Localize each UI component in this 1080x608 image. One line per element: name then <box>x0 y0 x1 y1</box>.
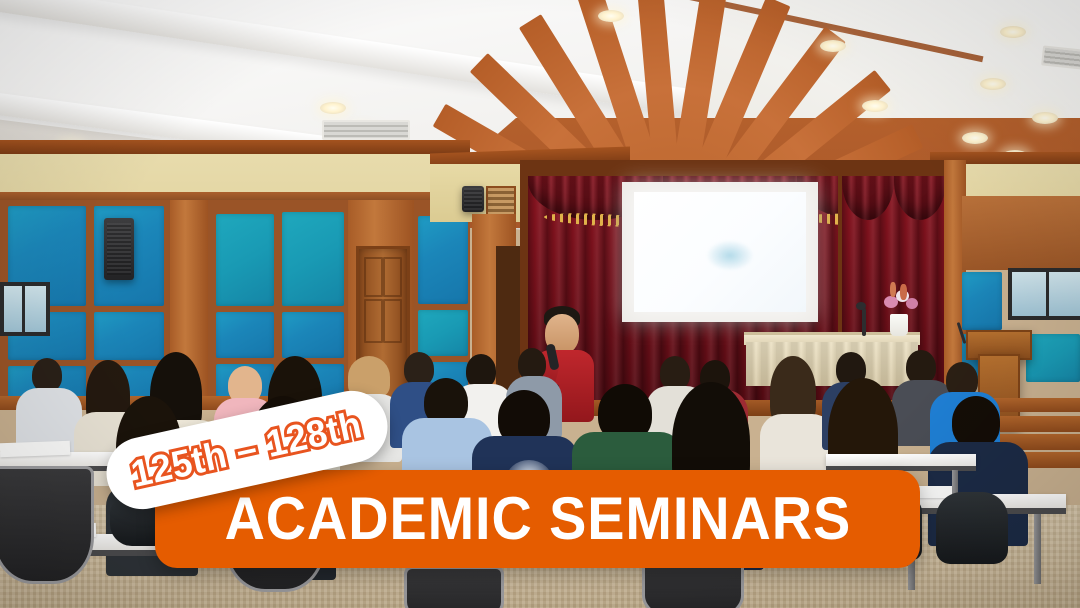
acoustic-panel <box>216 312 274 358</box>
audience-head-front <box>952 396 1000 448</box>
door-panel <box>383 257 402 297</box>
chair-back <box>404 566 504 608</box>
flower-vase <box>890 314 908 336</box>
acoustic-panel <box>216 214 274 306</box>
ceiling-downlight <box>1000 26 1026 38</box>
acoustic-panel <box>282 312 344 358</box>
ceiling-downlight <box>1032 112 1058 124</box>
ceiling-downlight <box>862 100 888 112</box>
ceiling-downlight <box>980 78 1006 90</box>
handout-paper <box>0 441 70 457</box>
banner-title: ACADEMIC SEMINARS <box>224 489 851 549</box>
ceiling-downlight <box>598 10 624 22</box>
air-vent-grille <box>322 120 410 140</box>
banner-bar: ACADEMIC SEMINARS <box>155 470 920 568</box>
audience-head <box>32 358 62 392</box>
acoustic-panel <box>962 272 1002 330</box>
chair-back <box>0 466 94 584</box>
right-wall-wood-panel <box>962 196 1080 270</box>
side-window[interactable] <box>1008 268 1080 320</box>
seminar-photo-banner: ACADEMIC SEMINARS 125th – 128th <box>0 0 1080 608</box>
slide-content-blur <box>706 240 754 271</box>
cornice-left <box>0 140 470 154</box>
curtain-valance <box>842 176 946 234</box>
attendee-table <box>826 454 976 466</box>
acoustic-panel <box>418 310 468 356</box>
wall-loudspeaker <box>462 186 484 212</box>
table-leg <box>1034 514 1041 584</box>
doorway-dark <box>496 246 520 400</box>
audience-head <box>660 356 690 390</box>
acoustic-panel <box>94 312 164 360</box>
ceiling-downlight <box>320 102 346 114</box>
ceiling-downlight <box>962 132 988 144</box>
flower-bloom <box>906 298 918 309</box>
acoustic-panel <box>282 212 344 306</box>
door-panel <box>383 299 402 343</box>
microphone-head <box>856 302 866 310</box>
projection-screen <box>634 192 806 312</box>
acoustic-panel <box>418 216 468 304</box>
acoustic-panel <box>1026 334 1080 382</box>
audience-head <box>404 352 434 386</box>
window-mullion <box>1046 272 1049 316</box>
wall-loudspeaker <box>104 218 134 280</box>
flower-bud <box>900 284 907 300</box>
ceiling-downlight <box>820 40 846 52</box>
backpack <box>936 492 1008 564</box>
table-microphone <box>862 308 866 336</box>
audience-head <box>466 354 496 388</box>
door-panel <box>364 299 383 343</box>
side-window <box>0 282 50 336</box>
flower-bud <box>890 282 896 297</box>
valance-swag <box>894 176 946 220</box>
door-panel <box>364 257 383 297</box>
window-mullion <box>22 286 25 332</box>
audience-head <box>906 350 936 384</box>
valance-swag <box>842 176 894 220</box>
